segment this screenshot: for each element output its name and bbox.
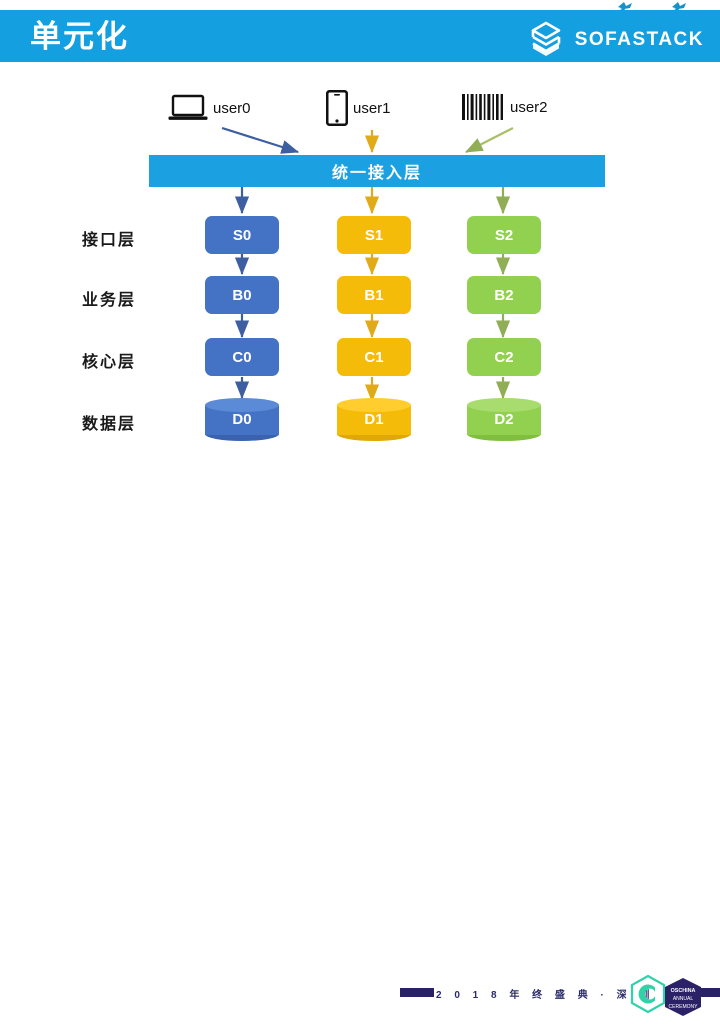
node-c2[interactable]: C2 [467,338,541,376]
footer-accent-bar-left [400,988,434,997]
device-label: user1 [353,100,391,117]
device-user1: user1 [326,90,391,126]
node-c1[interactable]: C1 [337,338,411,376]
node-s2[interactable]: S2 [467,216,541,254]
node-b1[interactable]: B1 [337,276,411,314]
brand-logo: SOFASTACK [526,20,704,60]
node-s1[interactable]: S1 [337,216,411,254]
mobile-phone-icon [326,90,348,126]
unified-access-layer-label: 统一接入层 [332,159,422,183]
svg-text:OSCHINA: OSCHINA [671,988,696,994]
barcode-icon [461,94,505,120]
device-label: user2 [510,99,548,116]
node-s0[interactable]: S0 [205,216,279,254]
node-c0[interactable]: C0 [205,338,279,376]
svg-text:CEREMONY: CEREMONY [669,1004,699,1010]
connector-arrows [0,0,720,540]
datastore-label: D2 [467,398,541,440]
device-user2: user2 [461,94,548,120]
footer: 2 0 1 8 年 终 盛 典 · 深 圳 OSCHINA ANNUAL CER… [0,486,720,540]
node-b0[interactable]: B0 [205,276,279,314]
datastore-d1[interactable]: D1 [337,398,411,440]
oschina-hexagon-logo: OSCHINA ANNUAL CEREMONY [626,974,718,1024]
brand-name: SOFASTACK [575,29,704,51]
unified-access-layer-bar: 统一接入层 [149,155,605,187]
row-label-core: 核心层 [82,348,172,372]
row-label-data: 数据层 [82,410,172,434]
sofastack-layers-icon [526,20,566,60]
footer-event-text: 2 0 1 8 年 终 盛 典 · 深 圳 [436,986,654,1001]
device-label: user0 [213,100,251,117]
row-label-business: 业务层 [82,286,172,310]
laptop-icon [168,94,208,122]
datastore-label: D0 [205,398,279,440]
datastore-label: D1 [337,398,411,440]
row-label-interface: 接口层 [82,226,172,250]
device-user0: user0 [168,94,251,122]
datastore-d2[interactable]: D2 [467,398,541,440]
datastore-d0[interactable]: D0 [205,398,279,440]
page-title: 单元化 [30,20,129,54]
node-b2[interactable]: B2 [467,276,541,314]
svg-text:ANNUAL: ANNUAL [673,996,694,1002]
slide-canvas: 单元化 SOFASTACK user0 user1 [0,0,720,540]
